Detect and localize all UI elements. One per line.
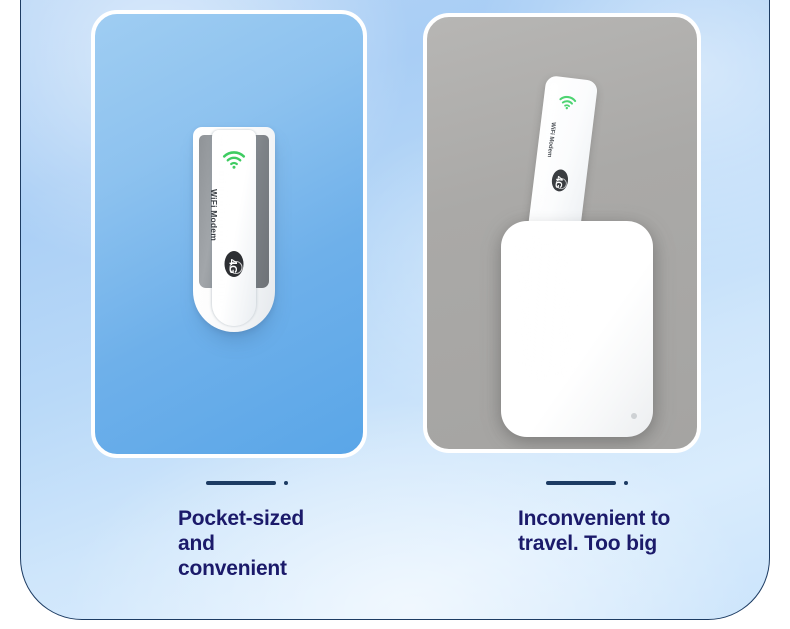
product-comparison-page: WiFi Modem 4G [0, 0, 790, 629]
svg-text:4G: 4G [553, 176, 564, 190]
power-adapter-led [631, 413, 637, 419]
wifi-icon [222, 151, 246, 169]
divider-line [206, 481, 276, 485]
modem-brand-text: WiFi Modem [209, 189, 219, 279]
modem-4g-badge-small: 4G [548, 167, 573, 194]
outer-card: WiFi Modem 4G [20, 0, 770, 620]
product-image-modem-stick: WiFi Modem 4G [193, 127, 275, 342]
caption-left-rule [178, 478, 304, 488]
caption-left-text: Pocket-sized and convenient [178, 506, 304, 581]
caption-right: Inconvenient to travel. Too big [518, 478, 670, 556]
panel-right-inconvenient[interactable]: WiFi Modem 4G [423, 13, 701, 453]
panel-left-pocket-sized[interactable]: WiFi Modem 4G [91, 10, 367, 458]
caption-right-text: Inconvenient to travel. Too big [518, 506, 670, 556]
divider-dot [284, 481, 288, 485]
divider-line [546, 481, 616, 485]
svg-text:4G: 4G [227, 259, 239, 274]
power-adapter-body [501, 221, 653, 437]
power-adapter-highlight [515, 235, 573, 385]
modem-4g-badge: 4G [221, 250, 247, 278]
caption-right-rule [518, 478, 670, 488]
modem-body-small: WiFi Modem 4G [527, 75, 598, 238]
divider-dot [624, 481, 628, 485]
modem-body: WiFi Modem 4G [193, 127, 275, 332]
wifi-icon [558, 95, 578, 111]
caption-left: Pocket-sized and convenient [178, 478, 304, 581]
product-image-modem-with-powerbank: WiFi Modem 4G [497, 77, 657, 437]
modem-stick-attached: WiFi Modem 4G [527, 75, 598, 240]
